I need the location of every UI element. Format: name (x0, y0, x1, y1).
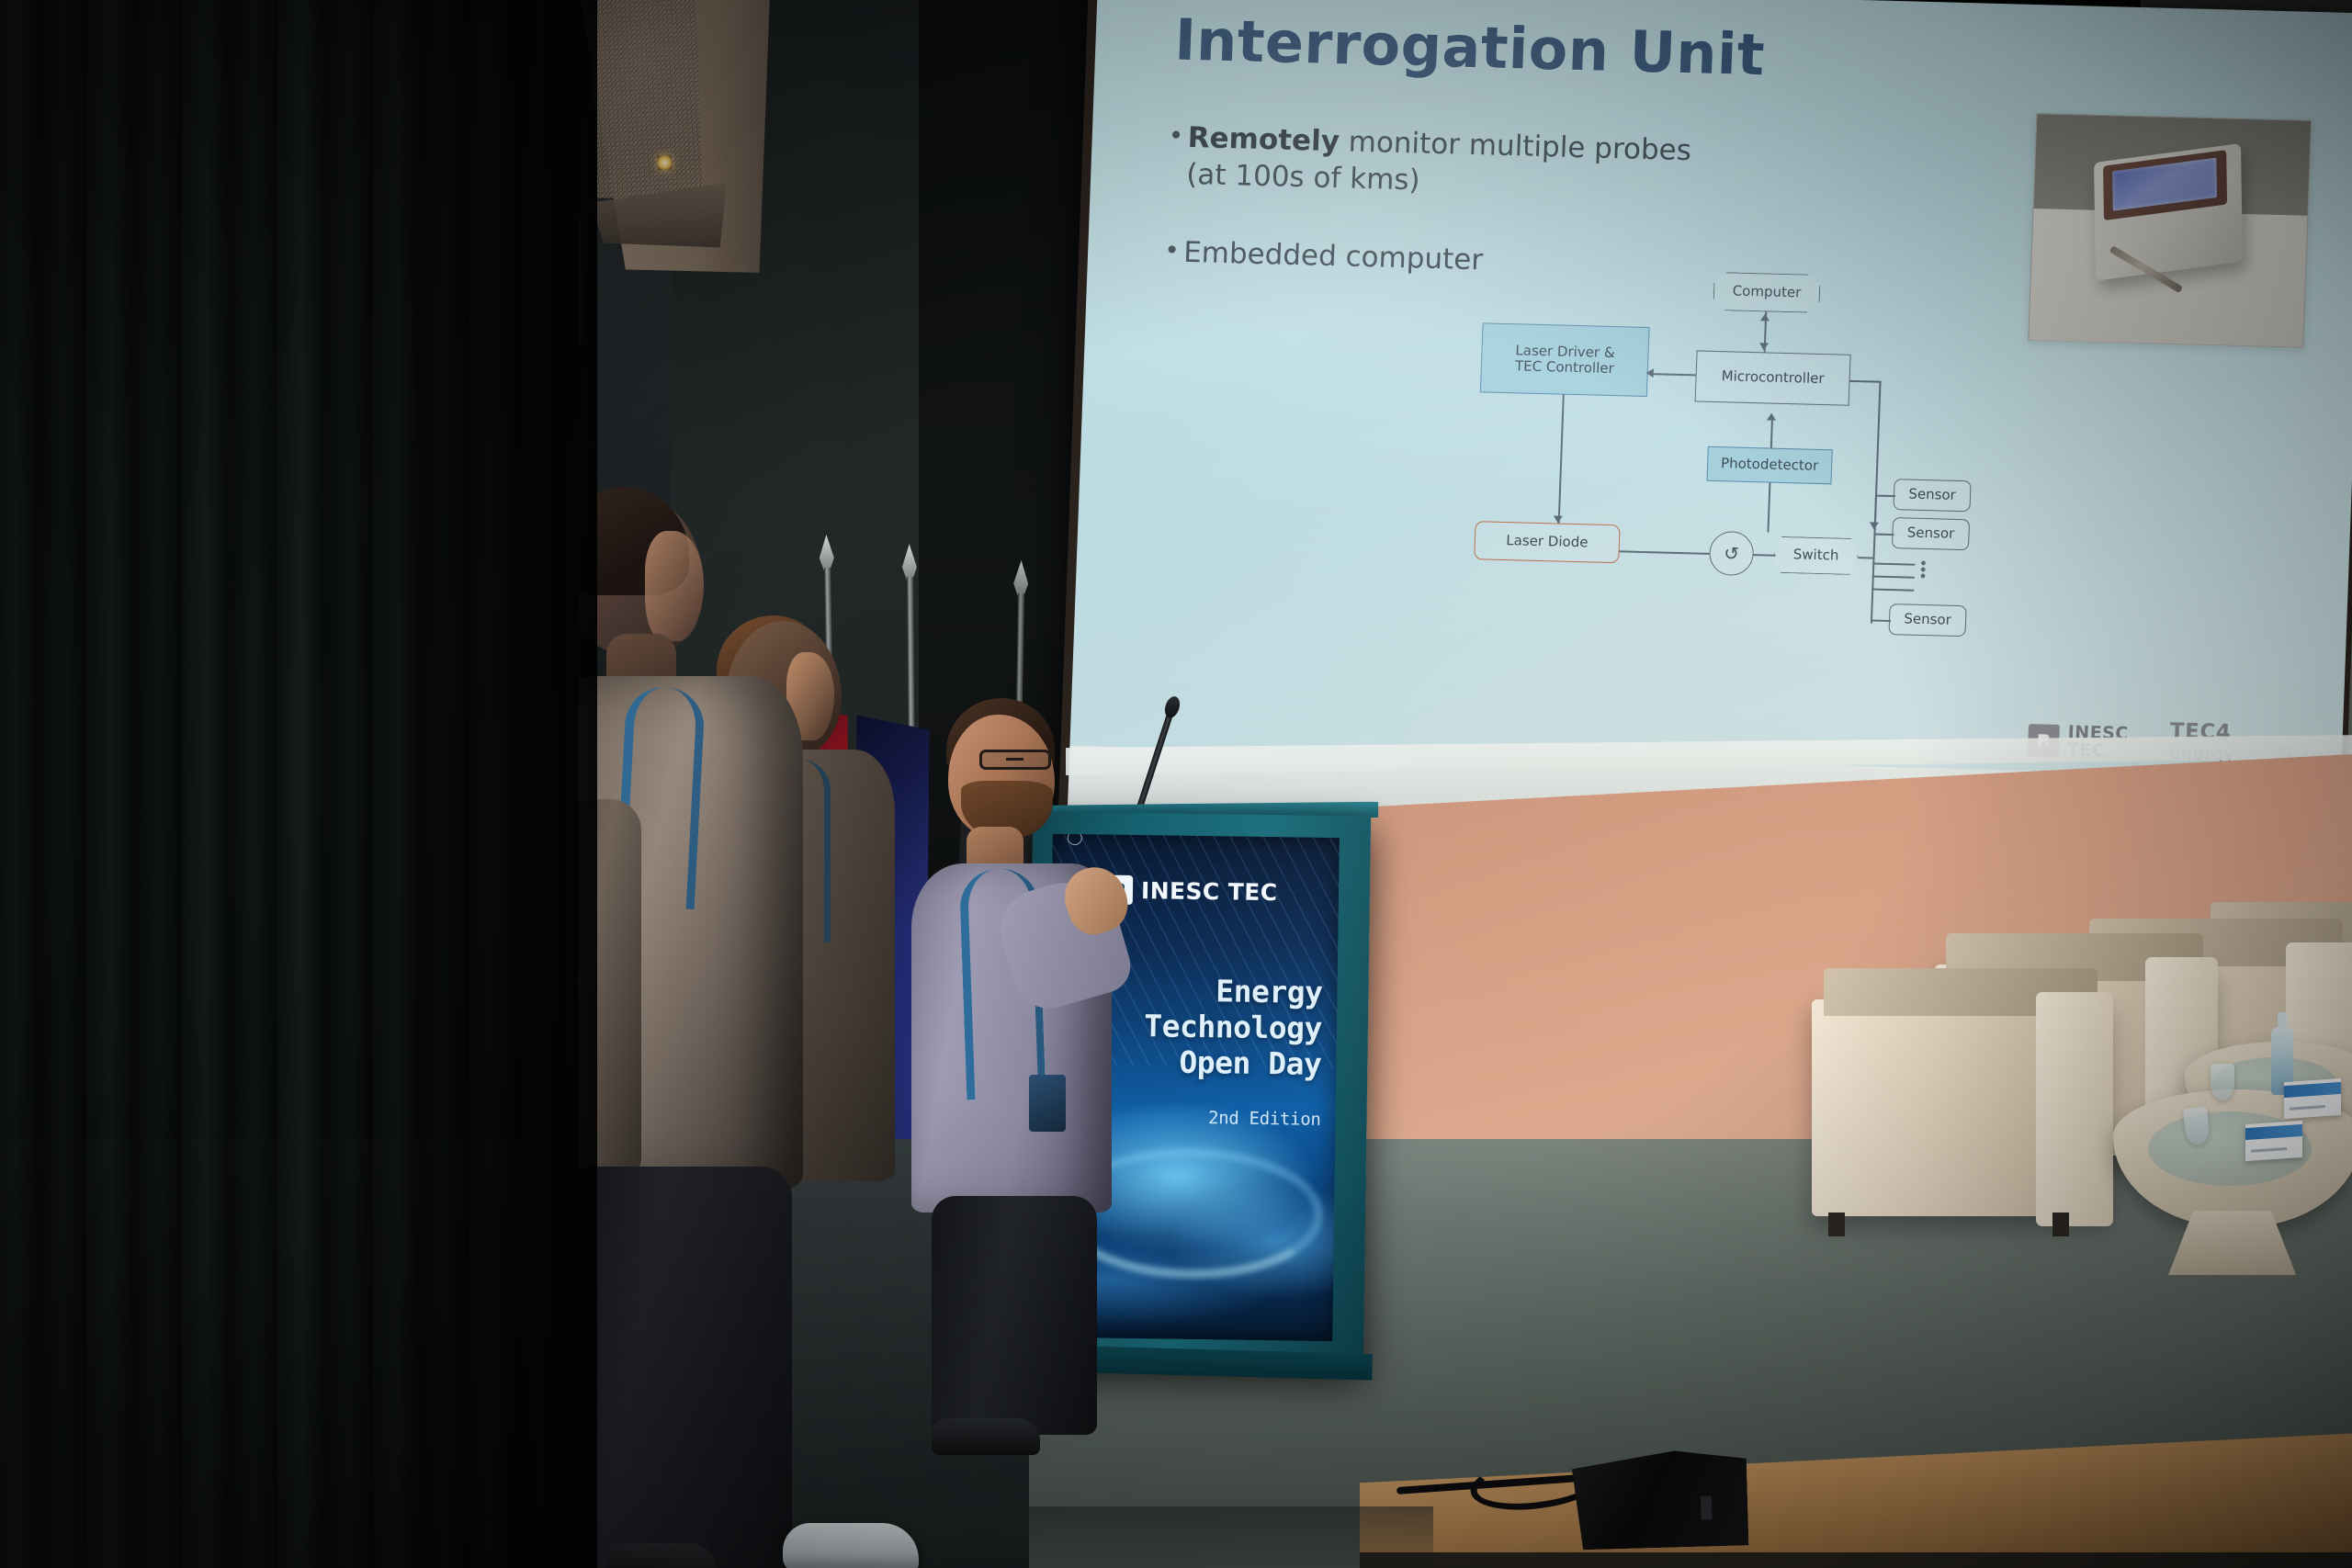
person-speaker-glasses-beard (908, 693, 1183, 1317)
diagram-link-bus-extra-1 (1872, 563, 1915, 566)
diagram-node-circulator-icon: ↺ (1709, 531, 1755, 576)
name-card-text-line (2251, 1147, 2286, 1153)
diagram-arrow-left-to-laserdriver (1646, 368, 1654, 378)
armchair-leg (2052, 1213, 2069, 1236)
diagram-node-sensor-3: Sensor (1888, 604, 1966, 637)
pa-status-led-icon (657, 155, 672, 171)
name-card (2284, 1078, 2341, 1119)
speaker-legs (932, 1196, 1097, 1435)
name-card-band (2245, 1124, 2302, 1140)
bullet-dot-icon: • (1166, 235, 1183, 272)
diagram-link-bus-extra-3 (1871, 589, 1914, 592)
diagram-node-computer: Computer (1713, 272, 1821, 313)
slide-content: Interrogation Unit • Remotely monitor mu… (1069, 0, 2352, 781)
diagram-link-micro-to-switch-a (1850, 380, 1882, 382)
photo-enclosure-box (2094, 143, 2243, 281)
name-card-text-line (2290, 1105, 2324, 1111)
diagram-link-bus-extra-2 (1872, 576, 1915, 579)
armchair (1812, 999, 2109, 1216)
bullet-text: Remotely monitor multiple probes (at 100… (1186, 120, 1692, 207)
slide-title: Interrogation Unit (1173, 6, 1766, 88)
diagram-node-sensor-2: Sensor (1892, 517, 1970, 550)
diagram-node-laser-driver-tec-controller: Laser Driver &TEC Controller (1480, 322, 1650, 397)
projection-screen: Interrogation Unit • Remotely monitor mu… (1058, 0, 2352, 840)
drinking-glass (2211, 1064, 2234, 1100)
monitor-badge-icon (1701, 1496, 1713, 1520)
diagram-node-laser-diode: Laser Diode (1474, 521, 1620, 563)
diagram-arrow-up-to-computer (1760, 313, 1770, 321)
name-card-band (2284, 1082, 2341, 1098)
slide-surface: Interrogation Unit • Remotely monitor mu… (1069, 0, 2352, 781)
slide-bullet-item: • Remotely monitor multiple probes (at 1… (1170, 119, 1779, 209)
photo-enclosure-lid (2102, 151, 2226, 221)
bullet-secondline: (at 100s of kms) (1186, 158, 1421, 197)
photo-lcd-display (2112, 158, 2216, 210)
block-diagram: Computer Laser Driver &TEC Controller Mi… (1461, 265, 2043, 629)
diagram-link-switch-bus-join (1858, 557, 1874, 558)
diagram-link-laserdriver-diode (1558, 395, 1565, 524)
diagram-arrow-down-to-micro (1759, 343, 1769, 350)
diagram-link-diode-circulator (1620, 550, 1710, 554)
bullet-rest: Embedded computer (1183, 236, 1484, 277)
bullet-text: Embedded computer (1182, 235, 1483, 279)
person-shoe-back (606, 1543, 717, 1568)
ceiling-pa-loudspeaker (569, 0, 788, 283)
name-card (2245, 1121, 2302, 1161)
armchair-leg (1828, 1213, 1845, 1236)
diagram-link-bus-sensor-1 (1875, 495, 1895, 497)
stage-curtain-shadow (303, 0, 597, 1568)
diagram-node-microcontroller: Microcontroller (1695, 350, 1851, 405)
floor-stage-monitor (1566, 1449, 1749, 1550)
person-face (645, 531, 704, 641)
diagram-node-sensor-1: Sensor (1893, 479, 1971, 512)
bullet-rest: monitor multiple probes (1339, 125, 1691, 167)
diagram-link-photo-micro (1770, 421, 1773, 448)
diagram-link-bus-sensor-3 (1871, 619, 1891, 621)
speaker-badge (1029, 1075, 1066, 1132)
bullet-bold-lead: Remotely (1187, 121, 1340, 158)
diagram-link-micro-laserdriver (1650, 373, 1696, 376)
interrogation-unit-photo (2028, 113, 2312, 348)
diagram-link-circulator-photo (1767, 483, 1770, 533)
speaker-glasses-icon (979, 750, 1051, 770)
diagram-link-circulator-switch (1754, 554, 1776, 556)
diagram-link-switch-sensor-bus (1871, 495, 1877, 624)
diagram-node-switch: Switch (1773, 536, 1859, 575)
diagram-link-bus-sensor-2 (1873, 534, 1894, 536)
armchair-armrest (2036, 992, 2113, 1226)
diagram-arrow-up-to-micro (1767, 412, 1776, 420)
speaker-shoe (932, 1418, 1040, 1455)
diagram-arrow-down-to-laserdiode (1554, 515, 1563, 523)
person-shoe-white (783, 1523, 919, 1568)
diagram-node-photodetector: Photodetector (1706, 446, 1832, 485)
pa-speaker-grille (585, 0, 708, 204)
diagram-sensor-ellipsis-icon: ••• (1920, 560, 1927, 580)
auditorium-scene: Interrogation Unit • Remotely monitor mu… (0, 0, 2352, 1568)
monitor-cabinet (1566, 1449, 1749, 1550)
stage-edge-front (1360, 1552, 2352, 1568)
